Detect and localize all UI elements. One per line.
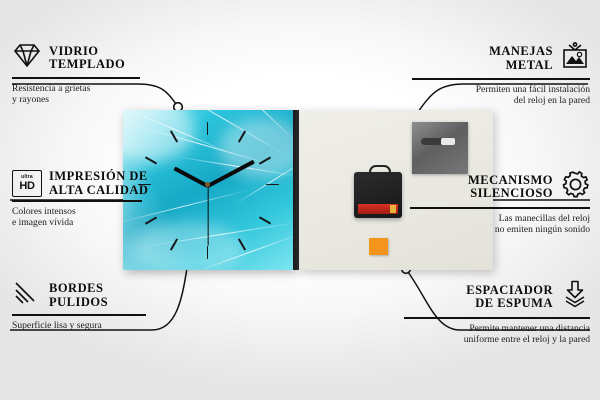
feature-title-line-2: PULIDOS xyxy=(49,296,108,310)
hanger-slot xyxy=(421,138,455,145)
feature-title-line-1: ESPACIADOR xyxy=(466,284,553,298)
hour-hand xyxy=(173,166,209,188)
polished-edges-icon xyxy=(12,280,42,311)
clock-center-cap xyxy=(205,182,210,187)
wall-frame-hanging-icon xyxy=(560,42,590,75)
feature-title-line-1: MANEJAS xyxy=(489,45,553,59)
feature-espaciador-espuma[interactable]: ESPACIADOR DE ESPUMA Permite mantener un… xyxy=(404,280,590,345)
feature-subtitle-line-2: del reloj en la pared xyxy=(410,95,590,106)
ultra-hd-icon: ultra HD xyxy=(12,170,42,197)
divider xyxy=(412,78,590,80)
feature-subtitle-line-2: uniforme entre el reloj y la pared xyxy=(404,334,590,345)
feature-title-line-1: IMPRESIÓN DE xyxy=(49,170,148,184)
clock-tick xyxy=(266,184,279,186)
feature-bordes-pulidos[interactable]: BORDES PULIDOS Superficie lisa y segura xyxy=(12,280,172,331)
feature-title-line-2: SILENCIOSO xyxy=(468,187,553,201)
feature-subtitle-line-2: y rayones xyxy=(12,94,164,105)
second-hand xyxy=(207,185,208,245)
feature-impresion-alta-calidad[interactable]: ultra HD IMPRESIÓN DE ALTA CALIDAD Color… xyxy=(12,170,172,228)
feature-title-line-1: BORDES xyxy=(49,282,108,296)
feature-subtitle-line-2: no emiten ningún sonido xyxy=(410,224,590,235)
feature-subtitle-line-1: Superficie lisa y segura xyxy=(12,320,172,331)
clock-tick xyxy=(259,216,271,224)
feature-vidrio-templado[interactable]: VIDRIO TEMPLADO Resistencia a grietas y … xyxy=(12,42,164,105)
feature-subtitle-line-1: Colores intensos xyxy=(12,206,172,217)
divider xyxy=(12,200,142,202)
feature-subtitle-line-1: Las manecillas del reloj xyxy=(410,213,590,224)
infographic-canvas: VIDRIO TEMPLADO Resistencia a grietas y … xyxy=(0,0,600,400)
diamond-icon xyxy=(12,42,42,74)
orange-foam-spacer xyxy=(369,238,388,255)
feature-title-line-2: METAL xyxy=(489,59,553,73)
clock-tick xyxy=(207,122,209,135)
hd-icon-hd-text: HD xyxy=(19,181,34,192)
gear-icon xyxy=(560,170,590,204)
metal-hanger-plate xyxy=(412,122,468,174)
divider xyxy=(410,207,590,209)
divider xyxy=(12,314,146,316)
feature-manejas-metal[interactable]: MANEJAS METAL Permiten una fácil instala… xyxy=(410,42,590,106)
feature-title-line-2: ALTA CALIDAD xyxy=(49,184,148,198)
foam-spacer-arrow-icon xyxy=(560,280,590,314)
divider xyxy=(12,77,140,79)
feature-title-line-2: TEMPLADO xyxy=(49,58,125,72)
feature-subtitle-line-1: Permite mantener una distancia xyxy=(404,323,590,334)
feature-subtitle-line-1: Permiten una fácil instalación xyxy=(410,84,590,95)
aa-battery xyxy=(358,204,398,214)
hanger-loop xyxy=(369,165,391,176)
feature-subtitle-line-2: e imagen vívida xyxy=(12,217,172,228)
feature-mecanismo-silencioso[interactable]: MECANISMO SILENCIOSO Las manecillas del … xyxy=(410,170,590,235)
feature-title-line-2: DE ESPUMA xyxy=(466,297,553,311)
feature-title-line-1: VIDRIO xyxy=(49,45,125,59)
quartz-clock-mechanism xyxy=(354,172,402,218)
highlight-glow xyxy=(123,110,195,162)
divider xyxy=(404,317,590,319)
feature-subtitle-line-1: Resistencia a grietas xyxy=(12,83,164,94)
feature-title-line-1: MECANISMO xyxy=(468,174,553,188)
